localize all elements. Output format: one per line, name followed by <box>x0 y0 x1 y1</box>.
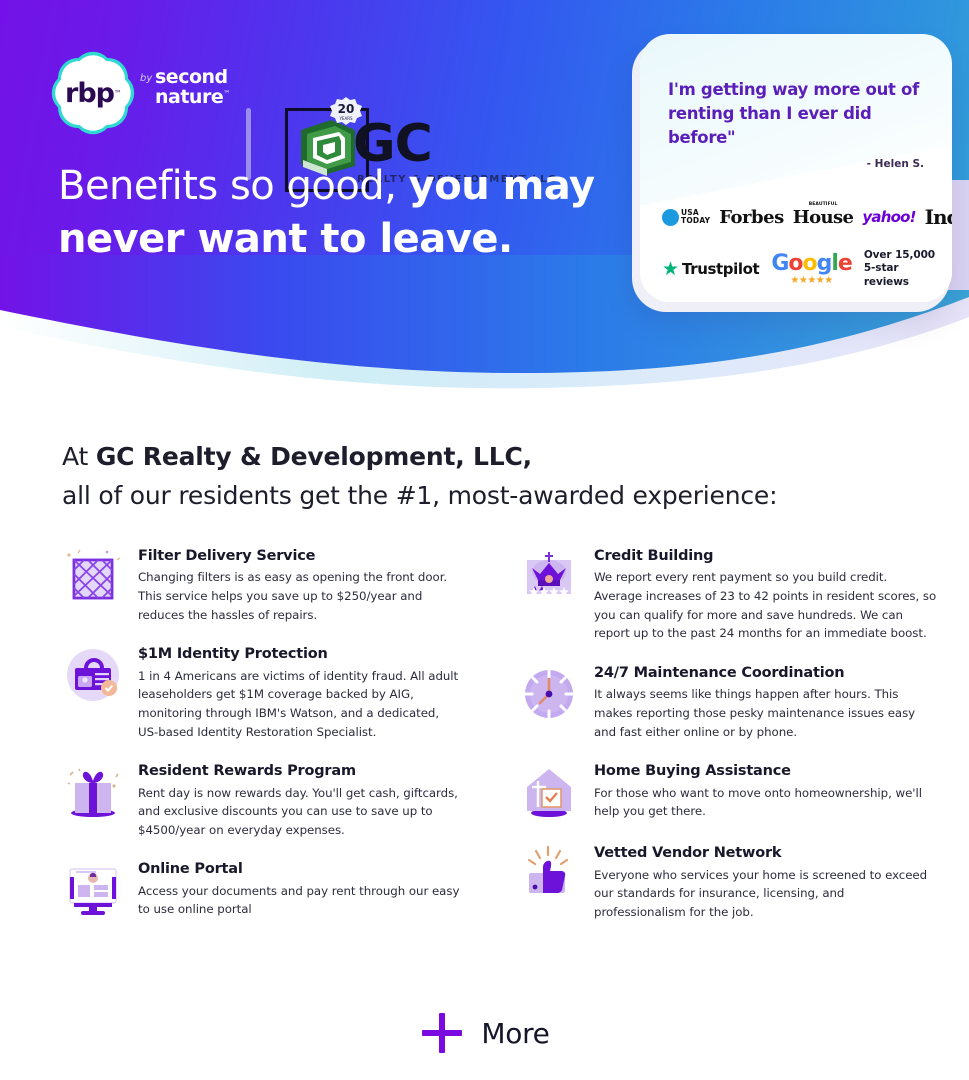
hero-headline-regular: Benefits so good, <box>58 163 409 209</box>
second-nature-line2: nature <box>155 86 223 108</box>
feature-body: Resident Rewards Program Rent day is now… <box>138 761 462 839</box>
usa-today-logo: USA TODAY <box>662 209 710 226</box>
features-column-left: Filter Delivery Service Changing filters… <box>62 546 462 941</box>
clock-icon <box>518 663 580 725</box>
main-heading-prefix: At <box>62 442 96 471</box>
feature-body: Credit Building We report every rent pay… <box>594 546 938 643</box>
testimonial-card: I'm getting way more out of renting than… <box>640 34 952 302</box>
google-letter-o1: o <box>788 251 802 276</box>
rbp-logo: rbp™ <box>58 56 130 132</box>
second-nature-tm: ™ <box>223 89 230 97</box>
testimonial-attribution: - Helen S. <box>867 158 924 170</box>
usa-today-dot-icon <box>662 209 679 226</box>
feature-item: Home Buying Assistance For those who wan… <box>518 761 938 823</box>
rbp-mark-text: rbp <box>65 78 114 109</box>
feature-title: Online Portal <box>138 861 462 878</box>
feature-title: Filter Delivery Service <box>138 548 462 565</box>
google-logo: Google ★★★★★ <box>771 253 852 286</box>
trustpilot-logo: ★ Trustpilot <box>662 260 759 279</box>
more-label: More <box>481 1017 549 1050</box>
feature-description: For those who want to move onto homeowne… <box>594 784 938 821</box>
feature-description: Access your documents and pay rent throu… <box>138 882 462 919</box>
benefits-flyer: rbp™ by second nature™ <box>0 0 969 1080</box>
feature-title: Resident Rewards Program <box>138 763 462 780</box>
trustpilot-star-icon: ★ <box>662 260 679 279</box>
feature-description: 1 in 4 Americans are victims of identity… <box>138 667 462 742</box>
feature-item: $1M Identity Protection 1 in 4 Americans… <box>62 644 462 741</box>
feature-body: Vetted Vendor Network Everyone who servi… <box>594 843 938 921</box>
usa-today-wordmark: USA TODAY <box>681 209 710 224</box>
identity-shield-icon <box>62 644 124 706</box>
more-button[interactable]: More <box>0 1010 969 1056</box>
house-beautiful-wordmark: House <box>793 207 854 228</box>
review-count-line2: 5-star reviews <box>864 262 942 288</box>
google-wordmark: Google <box>771 253 852 275</box>
google-letter-e: e <box>838 251 852 276</box>
hero-headline: Benefits so good, you may never want to … <box>58 160 638 266</box>
feature-title: Vetted Vendor Network <box>594 845 938 862</box>
feature-title: Credit Building <box>594 548 938 565</box>
review-count-line1: Over 15,000 <box>864 249 942 262</box>
feature-body: Online Portal Access your documents and … <box>138 859 462 921</box>
crown-stars-icon <box>518 546 580 608</box>
press-logo-row: USA TODAY Forbes BEAUTIFUL House yahoo! … <box>662 202 938 232</box>
feature-body: Home Buying Assistance For those who wan… <box>594 761 938 823</box>
online-portal-icon <box>62 859 124 921</box>
ratings-row: ★ Trustpilot Google ★★★★★ Over 15,000 5-… <box>662 249 942 289</box>
feature-item: Resident Rewards Program Rent day is now… <box>62 761 462 839</box>
feature-item: Online Portal Access your documents and … <box>62 859 462 921</box>
trustpilot-wordmark: Trustpilot <box>682 260 759 278</box>
plus-icon[interactable] <box>419 1010 465 1056</box>
feature-item: Credit Building We report every rent pay… <box>518 546 938 643</box>
feature-body: 24/7 Maintenance Coordination It always … <box>594 663 938 741</box>
feature-description: We report every rent payment so you buil… <box>594 568 938 643</box>
feature-description: Rent day is now rewards day. You'll get … <box>138 784 462 840</box>
house-beautiful-sup: BEAUTIFUL <box>809 202 838 207</box>
feature-title: Home Buying Assistance <box>594 763 938 780</box>
feature-description: Everyone who services your home is scree… <box>594 866 938 922</box>
features-column-right: Credit Building We report every rent pay… <box>518 546 938 941</box>
usa-today-line2: TODAY <box>681 217 710 225</box>
google-letter-g1: G <box>771 251 788 276</box>
main-heading-company: GC Realty & Development, LLC, <box>96 442 532 471</box>
rbp-wordmark: rbp™ <box>58 61 128 125</box>
hero-section: rbp™ by second nature™ <box>0 0 969 400</box>
home-buying-icon <box>518 761 580 823</box>
google-star-rating-icon: ★★★★★ <box>771 276 852 286</box>
thumbs-up-icon <box>518 843 580 905</box>
feature-title: 24/7 Maintenance Coordination <box>594 665 938 682</box>
inc-logo: Inc. <box>925 205 952 229</box>
feature-body: $1M Identity Protection 1 in 4 Americans… <box>138 644 462 741</box>
main-heading-line2: all of our residents get the #1, most-aw… <box>62 481 777 510</box>
svg-text:YEARS: YEARS <box>338 116 352 121</box>
feature-item: Filter Delivery Service Changing filters… <box>62 546 462 624</box>
svg-text:20: 20 <box>338 102 355 116</box>
second-nature-wordmark: second nature™ <box>155 68 265 107</box>
feature-body: Filter Delivery Service Changing filters… <box>138 546 462 624</box>
forbes-logo: Forbes <box>719 207 783 228</box>
feature-description: Changing filters is as easy as opening t… <box>138 568 462 624</box>
feature-description: It always seems like things happen after… <box>594 685 938 741</box>
house-beautiful-logo: BEAUTIFUL House <box>793 207 854 228</box>
rbp-tm: ™ <box>114 89 121 98</box>
main-heading: At GC Realty & Development, LLC, all of … <box>62 438 902 516</box>
testimonial-quote: I'm getting way more out of renting than… <box>668 78 930 150</box>
review-count-text: Over 15,000 5-star reviews <box>864 249 942 288</box>
google-letter-o2: o <box>803 251 817 276</box>
gift-icon <box>62 761 124 823</box>
google-letter-g2: g <box>817 251 832 276</box>
feature-item: 24/7 Maintenance Coordination It always … <box>518 663 938 741</box>
feature-item: Vetted Vendor Network Everyone who servi… <box>518 843 938 921</box>
logo-row: rbp™ by second nature™ <box>0 48 640 148</box>
second-nature-by-label: by <box>140 73 152 84</box>
yahoo-logo: yahoo! <box>862 208 915 226</box>
feature-title: $1M Identity Protection <box>138 646 462 663</box>
air-filter-icon <box>62 546 124 608</box>
